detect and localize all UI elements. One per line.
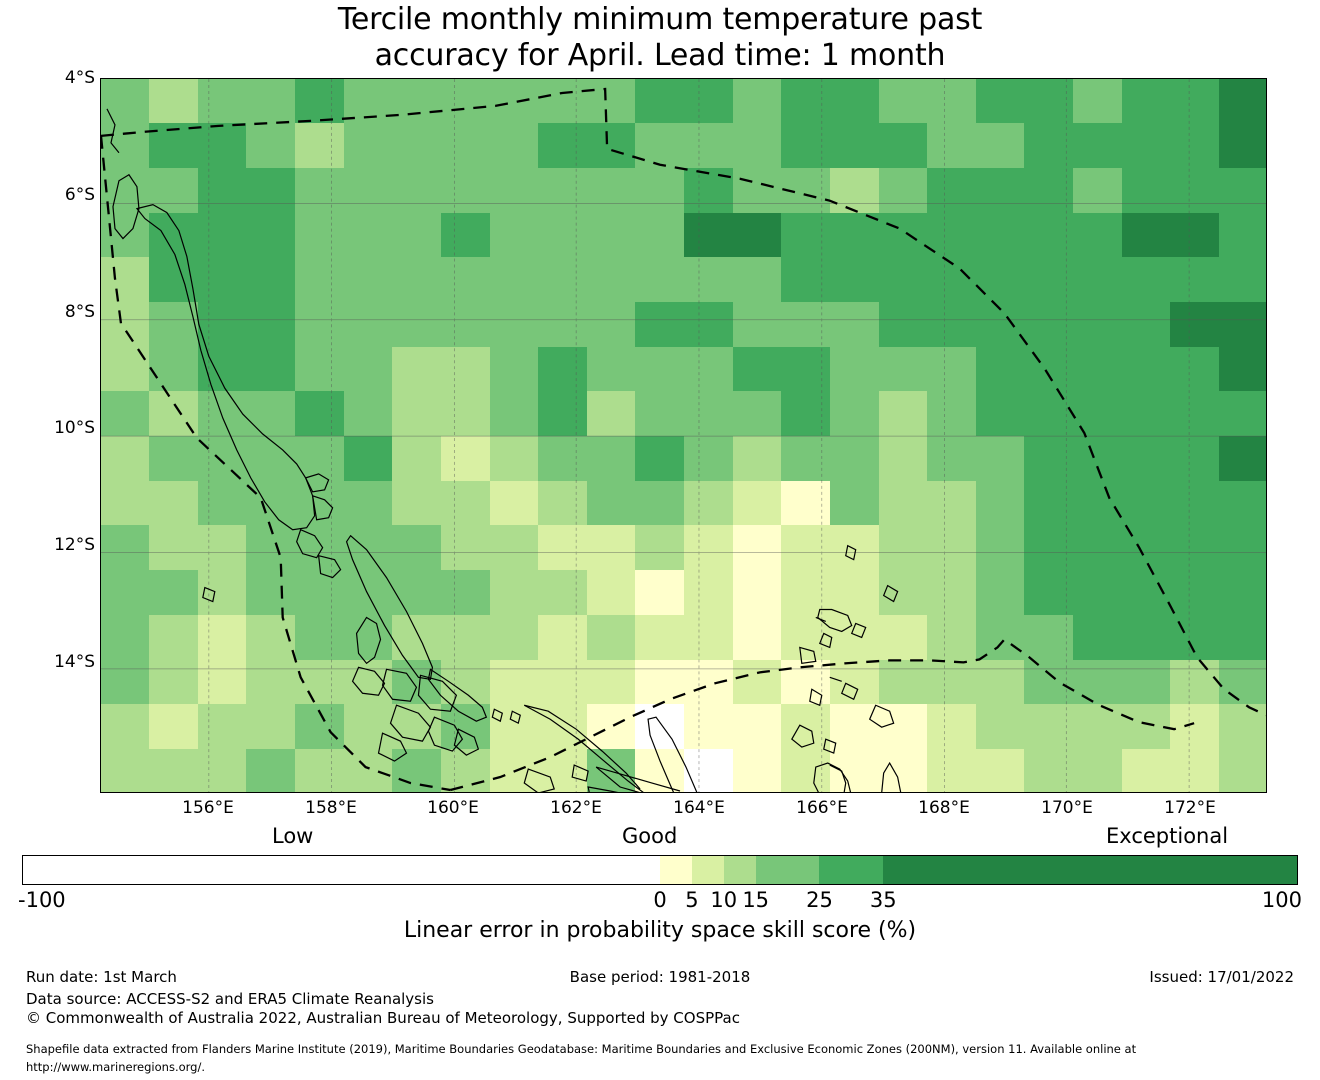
colorbar-band [819,856,883,884]
data-source: Data source: ACCESS-S2 and ERA5 Climate … [26,990,434,1009]
title-line-2: accuracy for April. Lead time: 1 month [0,38,1320,74]
footer: Run date: 1st March Base period: 1981-20… [0,968,1320,1080]
shapefile-credit-line-1: Shapefile data extracted from Flanders M… [26,1041,1136,1057]
copyright-notice: © Commonwealth of Australia 2022, Austra… [26,1009,740,1028]
colorbar-band [724,856,756,884]
map-overlay [101,79,1266,792]
base-period: Base period: 1981-2018 [0,968,1320,987]
colorbar-tick-label: 35 [823,890,943,911]
page-title: Tercile monthly minimum temperature past… [0,2,1320,74]
y-tick-label: 4°S [0,70,95,87]
colorbar-band [756,856,820,884]
colorbar-band [660,856,692,884]
colorbar-quality-label: Low [272,826,313,847]
x-tick-label: 172°E [1130,800,1250,817]
x-tick-label: 162°E [516,800,636,817]
coastlines [107,109,920,792]
gridlines [101,79,1266,792]
issued-date: Issued: 17/01/2022 [1149,968,1294,987]
colorbar-tick-label: -100 [18,890,138,911]
colorbar-quality-labels: LowGoodExceptional [0,826,1320,852]
y-tick-label: 14°S [0,654,95,671]
y-tick-label: 6°S [0,187,95,204]
y-tick-label: 8°S [0,304,95,321]
x-tick-label: 164°E [639,800,759,817]
y-tick-label: 10°S [0,420,95,437]
x-tick-label: 160°E [393,800,513,817]
colorbar-band [692,856,724,884]
x-tick-label: 158°E [271,800,391,817]
x-tick-label: 170°E [1007,800,1127,817]
shapefile-credit-line-2: http://www.marineregions.org/. [26,1059,205,1075]
x-tick-label: 168°E [884,800,1004,817]
colorbar-tick-labels: -1000510152535100 [0,890,1320,914]
title-line-1: Tercile monthly minimum temperature past [0,2,1320,38]
y-tick-label: 12°S [0,537,95,554]
x-tick-label: 166°E [762,800,882,817]
map-plot-area [100,78,1267,793]
colorbar-tick-label: 100 [1182,890,1302,911]
colorbar [22,855,1298,885]
colorbar-quality-label: Good [622,826,677,847]
colorbar-quality-label: Exceptional [1106,826,1228,847]
colorbar-band [23,856,660,884]
eez-boundary [101,89,1266,790]
colorbar-band [883,856,1297,884]
x-tick-label: 156°E [148,800,268,817]
colorbar-caption: Linear error in probability space skill … [0,918,1320,944]
